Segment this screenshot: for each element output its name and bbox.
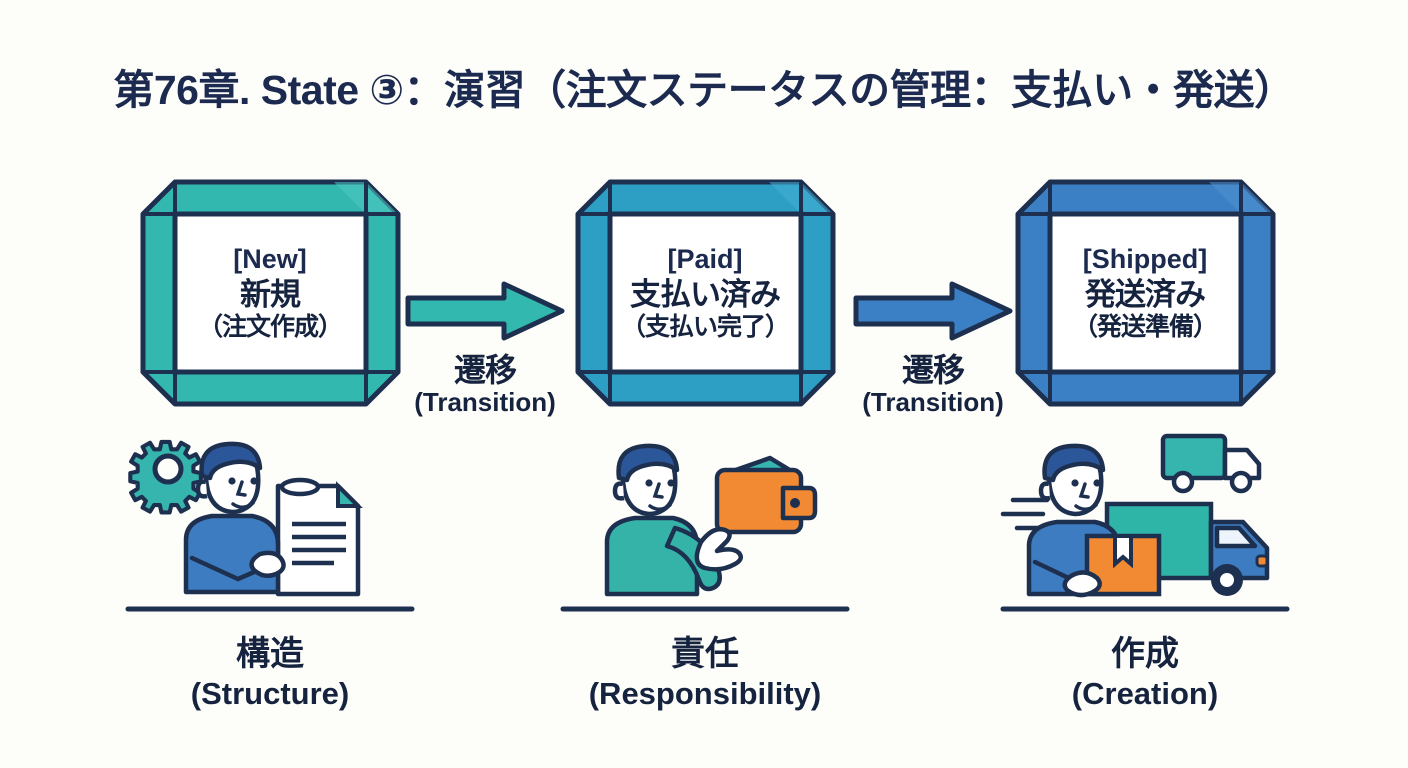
state-label-jp-new: 新規 [240,277,300,312]
transition-label-jp-2: 遷移 [838,354,1028,388]
state-box-text-shipped: [Shipped] 発送済み （発送準備） [1044,178,1247,408]
hand-icon [1065,572,1100,595]
caption-jp-responsibility: 責任 [555,634,855,674]
state-label-en-new: [New] [233,244,307,275]
state-box-shipped[interactable]: [Shipped] 発送済み （発送準備） [1014,178,1277,408]
caption-responsibility: 責任 (Responsibility) [555,634,855,713]
state-label-sub-paid: （支払い完了） [621,313,789,342]
state-label-sub-new: （注文作成） [198,313,342,342]
caption-jp-creation: 作成 [995,634,1295,674]
state-box-new[interactable]: [New] 新規 （注文作成） [139,178,402,408]
caption-jp-structure: 構造 [120,634,420,674]
gear-icon [130,442,201,513]
illustration-creation [995,424,1295,604]
state-label-jp-shipped: 発送済み [1085,277,1205,312]
caption-en-responsibility: (Responsibility) [555,676,855,713]
state-box-text-new: [New] 新規 （注文作成） [169,178,372,408]
caption-en-creation: (Creation) [995,676,1295,713]
speed-lines-icon [1003,500,1047,528]
caption-structure: 構造 (Structure) [120,634,420,713]
illustration-responsibility [555,424,855,604]
state-box-paid[interactable]: [Paid] 支払い済み （支払い完了） [574,178,837,408]
transition-group-2: 遷移 (Transition) [838,280,1028,416]
state-label-sub-shipped: （発送準備） [1073,313,1217,342]
wallet-icon [717,458,815,532]
transition-label-jp-1: 遷移 [390,354,580,388]
caption-en-structure: (Structure) [120,676,420,713]
ground-line [120,604,420,614]
small-truck-icon [1163,436,1259,491]
state-column-new: [New] 新規 （注文作成） [120,178,420,713]
person-figure [186,444,284,592]
transition-label-en-1: (Transition) [390,388,580,417]
state-column-shipped: [Shipped] 発送済み （発送準備） [995,178,1295,713]
arrow-right-icon [852,280,1014,342]
illustration-structure [120,424,420,604]
transition-group-1: 遷移 (Transition) [390,280,580,416]
ground-line [995,604,1295,614]
ground-line [555,604,855,614]
caption-creation: 作成 (Creation) [995,634,1295,713]
transition-label-en-2: (Transition) [838,388,1028,417]
arrow-right-icon [404,280,566,342]
state-label-en-paid: [Paid] [667,244,742,275]
diagram-stage: [New] 新規 （注文作成） [0,0,1408,768]
document-icon [278,480,358,594]
state-label-jp-paid: 支払い済み [630,277,780,312]
state-box-text-paid: [Paid] 支払い済み （支払い完了） [604,178,807,408]
state-column-paid: [Paid] 支払い済み （支払い完了） [555,178,855,713]
state-label-en-shipped: [Shipped] [1083,244,1207,275]
